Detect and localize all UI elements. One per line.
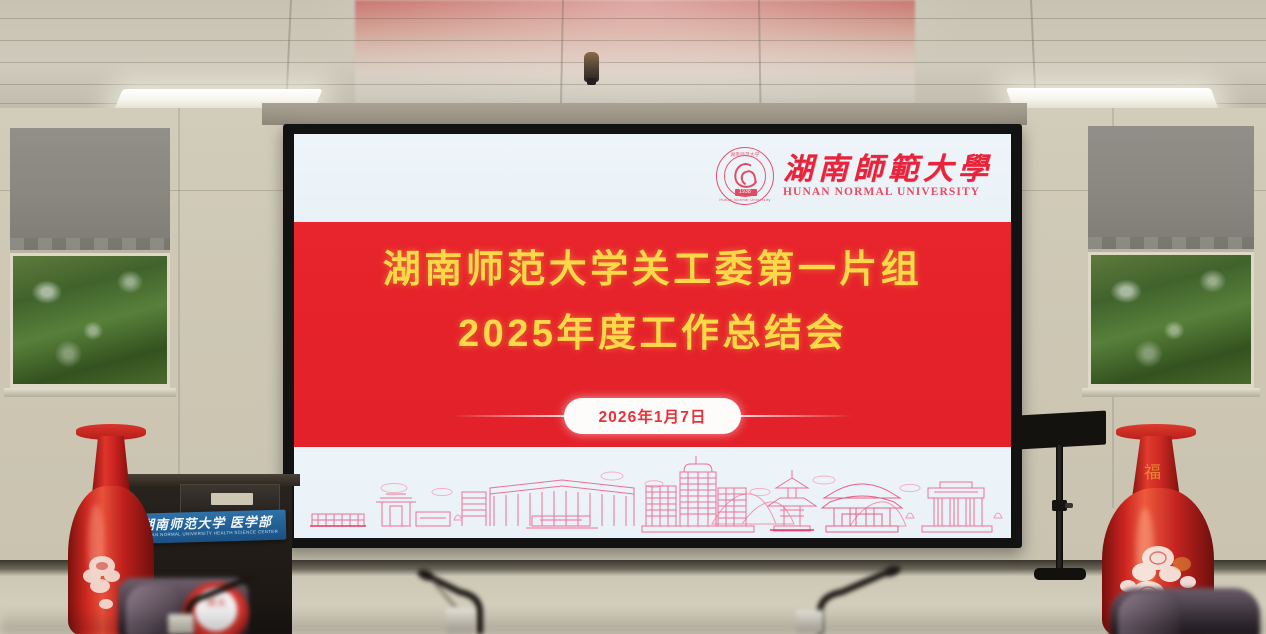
music-stand-base xyxy=(1034,568,1086,580)
ceiling-tile-line xyxy=(0,18,1266,19)
slide-title-line1: 湖南师范大学关工委第一片组 xyxy=(294,251,1011,289)
screen-soffit xyxy=(262,103,1027,125)
date-rule-left xyxy=(452,415,564,416)
ceiling-tile-line xyxy=(0,62,1266,63)
ceiling-sensor-icon xyxy=(584,52,599,82)
conference-room-photo: 湖南师范大学 1938 Hunan Normal University 湖南師範… xyxy=(0,0,1266,634)
slide-title-line2: 2025年度工作总结会 xyxy=(294,315,1011,353)
logo-name-cn: 湖南師範大學 xyxy=(783,154,993,186)
slide-date-badge: 2026年1月7日 xyxy=(564,398,740,434)
music-stand-knob[interactable] xyxy=(1065,503,1073,508)
university-crest-icon: 湖南师范大学 1938 Hunan Normal University xyxy=(716,147,774,205)
vase-right-fu-character: 福 xyxy=(1144,458,1164,480)
crest-phoenix-icon xyxy=(731,160,761,191)
podium-sign-en: HUNAN NORMAL UNIVERSITY HEALTH SCIENCE C… xyxy=(141,530,278,538)
crest-year: 1938 xyxy=(717,189,773,195)
ceiling-tile-line xyxy=(0,84,1266,85)
window-sill-left xyxy=(4,388,176,397)
window-glass-left xyxy=(10,253,170,388)
ceiling-tile-line xyxy=(0,40,1266,41)
window-blind-right[interactable] xyxy=(1088,126,1254,252)
date-rule-right xyxy=(741,415,853,416)
campus-skyline-illustration xyxy=(294,448,1011,536)
music-stand-tray xyxy=(1018,411,1106,450)
wall-seam xyxy=(178,108,180,508)
window-right xyxy=(1088,126,1254,388)
led-screen[interactable]: 湖南师范大学 1938 Hunan Normal University 湖南師範… xyxy=(294,134,1011,538)
window-left xyxy=(10,128,170,388)
crest-arc-top: 湖南师范大学 xyxy=(717,152,773,158)
window-glass-right xyxy=(1088,252,1254,388)
window-blind-left[interactable] xyxy=(10,128,170,253)
crest-arc-bottom: Hunan Normal University xyxy=(717,197,773,202)
foreground-shadow xyxy=(0,608,1266,634)
slide-title-block: 湖南师范大学关工委第一片组 2025年度工作总结会 xyxy=(294,251,1011,353)
slide-date-row: 2026年1月7日 xyxy=(294,398,1011,434)
logo-name-en: HUNAN NORMAL UNIVERSITY xyxy=(783,186,993,198)
window-sill-right xyxy=(1082,388,1260,397)
university-logo: 湖南师范大学 1938 Hunan Normal University 湖南師範… xyxy=(716,147,993,205)
